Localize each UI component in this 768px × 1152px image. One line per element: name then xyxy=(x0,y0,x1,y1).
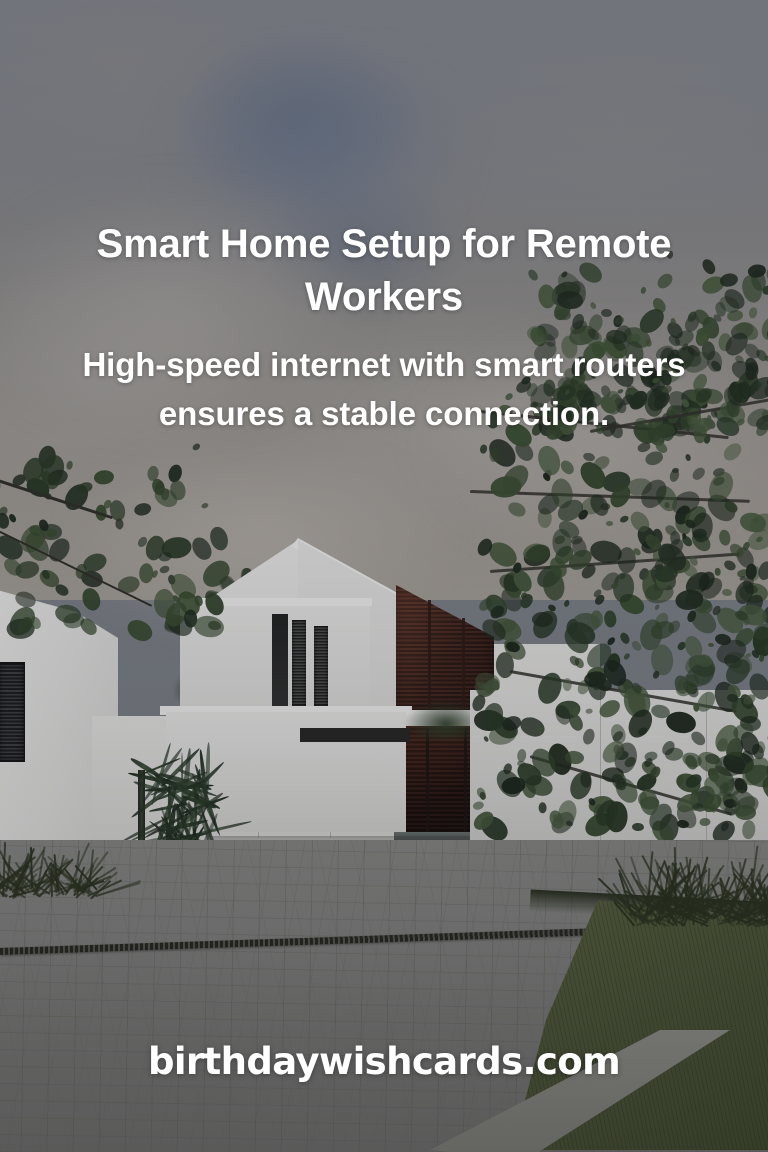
site-url-watermark[interactable]: birthdaywishcards.com xyxy=(0,1040,768,1083)
pin-title: Smart Home Setup for Remote Workers xyxy=(0,218,768,324)
pinterest-pin-card: Smart Home Setup for Remote Workers High… xyxy=(0,0,768,1152)
text-overlay: Smart Home Setup for Remote Workers High… xyxy=(0,0,768,1152)
pin-subtitle: High-speed internet with smart routers e… xyxy=(0,341,768,439)
